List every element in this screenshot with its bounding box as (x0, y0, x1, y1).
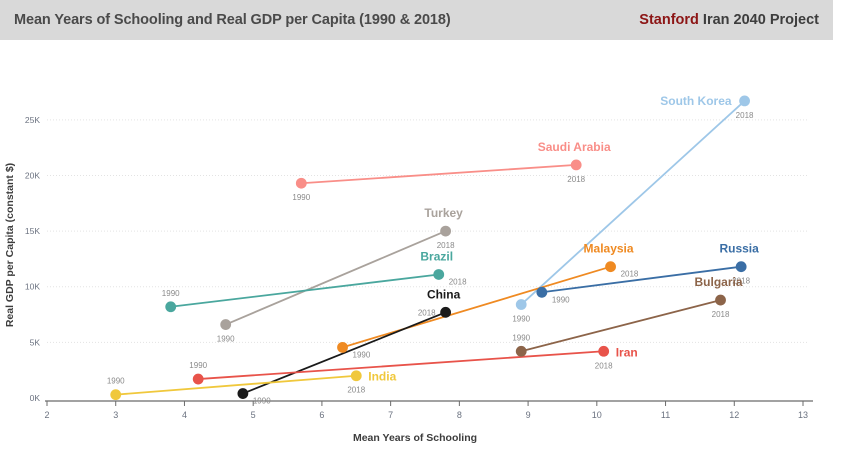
data-point-saudi-arabia-2018[interactable] (571, 159, 582, 170)
y-axis-tick-label: 20K (25, 170, 40, 180)
data-point-bulgaria-1990[interactable] (516, 346, 527, 357)
x-axis-tick-label: 2 (44, 410, 49, 420)
x-axis-tick-label: 4 (182, 410, 187, 420)
series-label-india: India (368, 370, 396, 384)
series-label-russia: Russia (719, 242, 759, 256)
point-year-label-iran-2018: 2018 (595, 361, 613, 370)
x-axis-tick-label: 9 (526, 410, 531, 420)
data-point-south-korea-2018[interactable] (739, 96, 750, 107)
x-axis-title: Mean Years of Schooling (353, 432, 477, 444)
brand-stanford: Stanford (639, 12, 699, 28)
data-point-bulgaria-2018[interactable] (715, 295, 726, 306)
y-axis-tick-label: 15K (25, 226, 40, 236)
point-year-label-malaysia-2018: 2018 (621, 270, 639, 279)
x-axis-tick-label: 8 (457, 410, 462, 420)
series-label-brazil: Brazil (420, 249, 453, 263)
series-line-brazil (171, 274, 439, 306)
x-axis-tick-label: 13 (798, 410, 808, 420)
series-line-iran (198, 351, 603, 379)
y-axis-tick-label: 10K (25, 282, 40, 292)
series-line-malaysia (343, 267, 611, 348)
scatter-plot: 0K5K10K15K20K25KReal GDP per Capita (con… (0, 40, 865, 454)
x-axis-tick-label: 11 (661, 410, 670, 420)
point-year-label-india-1990: 1990 (107, 377, 125, 386)
x-axis-tick-label: 3 (113, 410, 118, 420)
point-year-label-turkey-1990: 1990 (217, 335, 235, 344)
data-point-turkey-2018[interactable] (440, 226, 451, 237)
point-year-label-iran-1990: 1990 (189, 361, 207, 370)
data-point-iran-2018[interactable] (598, 346, 609, 357)
y-axis-title: Real GDP per Capita (constant $) (4, 163, 16, 327)
data-point-brazil-2018[interactable] (433, 269, 444, 280)
y-axis-tick-label: 25K (25, 115, 40, 125)
data-point-malaysia-2018[interactable] (605, 261, 616, 272)
series-label-saudi-arabia: Saudi Arabia (538, 140, 611, 154)
data-point-india-1990[interactable] (110, 389, 121, 400)
data-point-south-korea-1990[interactable] (516, 299, 527, 310)
brand-label: Stanford Iran 2040 Project (639, 12, 819, 28)
data-point-brazil-1990[interactable] (165, 301, 176, 312)
data-point-russia-1990[interactable] (536, 287, 547, 298)
series-label-malaysia: Malaysia (584, 242, 634, 256)
point-year-label-brazil-2018: 2018 (449, 277, 467, 286)
data-point-saudi-arabia-1990[interactable] (296, 178, 307, 189)
y-axis-tick-label: 5K (30, 337, 41, 347)
x-axis-tick-label: 6 (319, 410, 324, 420)
header-bar: Mean Years of Schooling and Real GDP per… (0, 0, 833, 40)
series-label-china: China (427, 287, 461, 301)
point-year-label-saudi-arabia-1990: 1990 (292, 193, 310, 202)
data-point-turkey-1990[interactable] (220, 319, 231, 330)
point-year-label-saudi-arabia-2018: 2018 (567, 175, 585, 184)
chart-page: Mean Years of Schooling and Real GDP per… (0, 0, 865, 454)
data-point-russia-2018[interactable] (736, 261, 747, 272)
series-label-iran: Iran (616, 345, 638, 359)
series-line-saudi-arabia (301, 165, 576, 183)
x-axis-tick-label: 10 (592, 410, 602, 420)
point-year-label-india-2018: 2018 (347, 386, 365, 395)
point-year-label-bulgaria-2018: 2018 (712, 310, 730, 319)
data-point-china-2018[interactable] (440, 307, 451, 318)
x-axis-tick-label: 7 (388, 410, 393, 420)
series-label-turkey: Turkey (424, 206, 463, 220)
x-axis-tick-label: 5 (251, 410, 256, 420)
data-point-china-1990[interactable] (237, 388, 248, 399)
data-point-india-2018[interactable] (351, 370, 362, 381)
data-point-malaysia-1990[interactable] (337, 342, 348, 353)
page-title: Mean Years of Schooling and Real GDP per… (14, 12, 451, 28)
data-point-iran-1990[interactable] (193, 374, 204, 385)
point-year-label-brazil-1990: 1990 (162, 289, 180, 298)
chart-canvas: 0K5K10K15K20K25KReal GDP per Capita (con… (0, 40, 865, 454)
point-year-label-bulgaria-1990: 1990 (512, 333, 530, 342)
x-axis-tick-label: 12 (729, 410, 739, 420)
series-line-bulgaria (521, 300, 720, 351)
point-year-label-south-korea-2018: 2018 (736, 111, 754, 120)
point-year-label-china-2018: 2018 (418, 308, 436, 317)
series-line-china (243, 312, 446, 393)
y-axis-tick-label: 0K (30, 393, 41, 403)
point-year-label-malaysia-1990: 1990 (353, 350, 371, 359)
point-year-label-russia-1990: 1990 (552, 295, 570, 304)
series-label-south-korea: South Korea (660, 94, 732, 108)
point-year-label-south-korea-1990: 1990 (512, 315, 530, 324)
series-line-india (116, 376, 357, 395)
series-label-bulgaria: Bulgaria (695, 275, 743, 289)
point-year-label-china-1990: 1990 (253, 397, 271, 406)
brand-rest: Iran 2040 Project (699, 12, 819, 28)
